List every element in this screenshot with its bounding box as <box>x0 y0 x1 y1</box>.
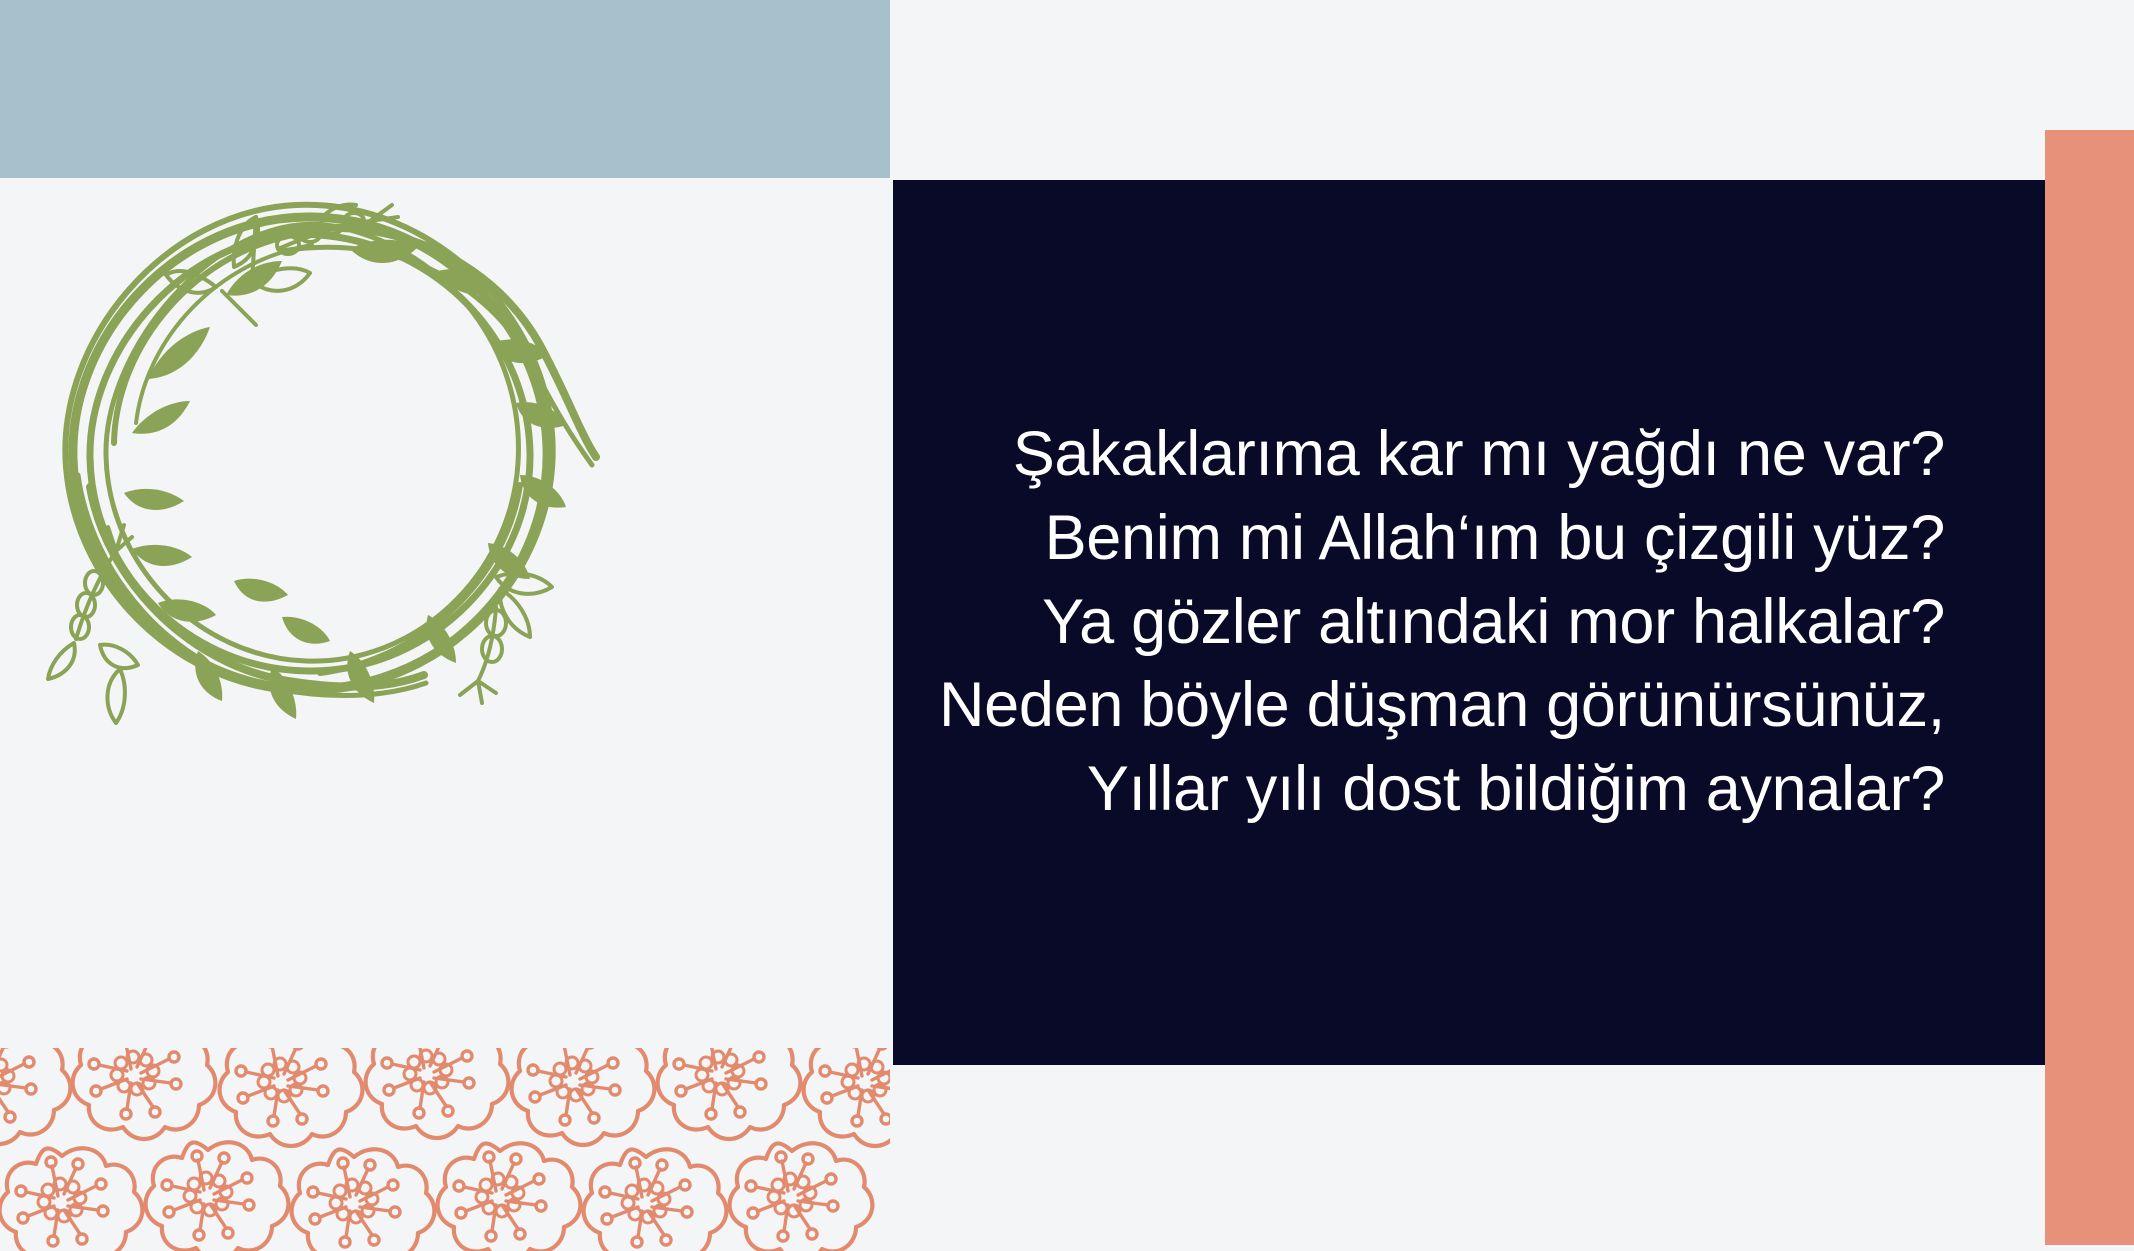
quote-panel: Şakaklarıma kar mı yağdı ne var? Benim m… <box>893 180 2045 1065</box>
quote-line: Şakaklarıma kar mı yağdı ne var? <box>939 413 1945 497</box>
laurel-vine-wreath-illustration <box>20 175 600 745</box>
floral-blossom-pattern <box>0 1048 890 1251</box>
blue-accent-band <box>0 0 890 178</box>
slide-canvas: Şakaklarıma kar mı yağdı ne var? Benim m… <box>0 0 2134 1251</box>
quote-line: Yıllar yılı dost bildiğim aynalar? <box>939 748 1945 832</box>
blossom-row-bottom <box>0 1142 872 1251</box>
blossom-row-top <box>0 1048 890 1146</box>
orange-accent-strip <box>2045 130 2134 1245</box>
quote-text-block: Şakaklarıma kar mı yağdı ne var? Benim m… <box>939 413 2045 832</box>
quote-line: Benim mi Allah‘ım bu çizgili yüz? <box>939 497 1945 581</box>
quote-line: Ya gözler altındaki mor halkalar? <box>939 581 1945 665</box>
quote-line: Neden böyle düşman görünürsünüz, <box>939 664 1945 748</box>
